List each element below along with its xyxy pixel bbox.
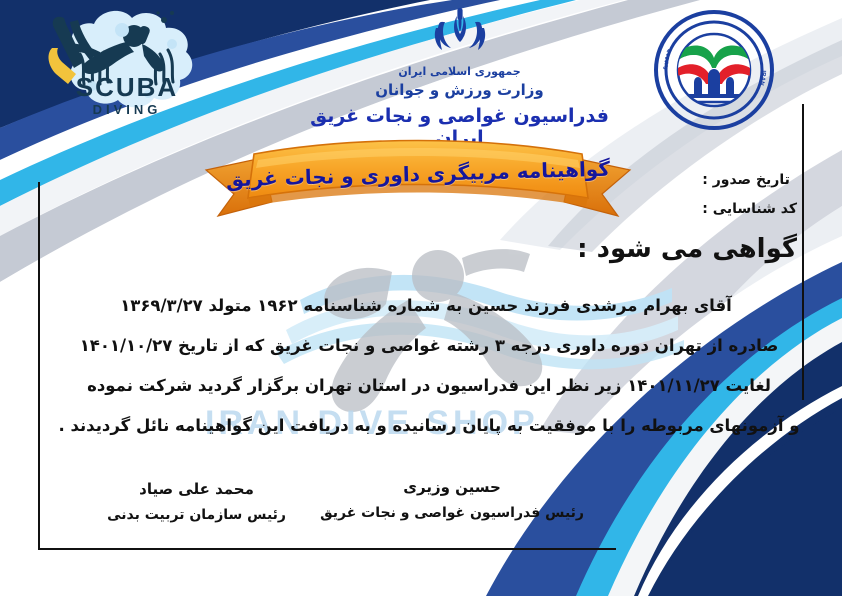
certificate-title-ribbon: گواهینامه مربیگری داوری و نجات غریق bbox=[196, 136, 640, 232]
signature-title: رئیس فدراسیون غواصی و نجات غریق bbox=[320, 505, 584, 521]
issue-fields: تاریخ صدور : کد شناسایی : bbox=[702, 166, 797, 223]
issue-date-field[interactable]: تاریخ صدور : bbox=[702, 166, 797, 195]
frame-bottom-line bbox=[38, 548, 616, 550]
certificate-body: آقای بهرام مرشدی فرزند حسین به شماره شنا… bbox=[68, 286, 790, 446]
fed-ring-text-fa: جمهوری اسلامی ایران bbox=[650, 6, 672, 71]
id-code-field[interactable]: کد شناسایی : bbox=[702, 195, 797, 224]
scuba-logo-title: SCUBA bbox=[76, 72, 178, 102]
signature-title: رئیس سازمان تربیت بدنی bbox=[107, 507, 286, 523]
body-line-3: لغایت ۱۴۰۱/۱۱/۲۷ زیر نظر این فدراسیون در… bbox=[68, 366, 790, 406]
ministry-line: وزارت ورزش و جوانان bbox=[352, 81, 567, 101]
ministry-block: جمهوری اسلامی ایران وزارت ورزش و جوانان bbox=[352, 8, 567, 101]
body-line-2: صادره از تهران دوره داوری درجه ۳ رشته غو… bbox=[68, 326, 790, 366]
signature-name: حسین وزیری bbox=[320, 478, 584, 496]
scuba-logo-subtitle: DIVING bbox=[93, 102, 162, 117]
svg-text:جمهوری اسلامی ایران: جمهوری اسلامی ایران bbox=[650, 6, 672, 71]
signature-organization-head: محمد علی صیاد رئیس سازمان تربیت بدنی bbox=[107, 480, 286, 523]
signature-federation-head: حسین وزیری رئیس فدراسیون غواصی و نجات غر… bbox=[320, 478, 584, 521]
frame-right-line bbox=[802, 104, 804, 400]
iran-national-emblem-icon bbox=[352, 8, 567, 64]
federation-logo: جمهوری اسلامی ایران ISLAMIC REPUBLIC OF … bbox=[650, 6, 778, 134]
frame-left-line bbox=[38, 182, 40, 550]
body-line-1: آقای بهرام مرشدی فرزند حسین به شماره شنا… bbox=[68, 286, 790, 326]
signature-name: محمد علی صیاد bbox=[107, 480, 286, 498]
scuba-diving-logo: SCUBA DIVING bbox=[30, 8, 220, 126]
republic-line: جمهوری اسلامی ایران bbox=[352, 65, 567, 79]
certificate-page: IRAN DIVE SHOP bbox=[0, 0, 842, 596]
body-line-4: و آزمونهای مربوطه را با موفقیت به پایان … bbox=[68, 406, 790, 446]
certify-heading: گواهی می شود : bbox=[577, 234, 797, 264]
